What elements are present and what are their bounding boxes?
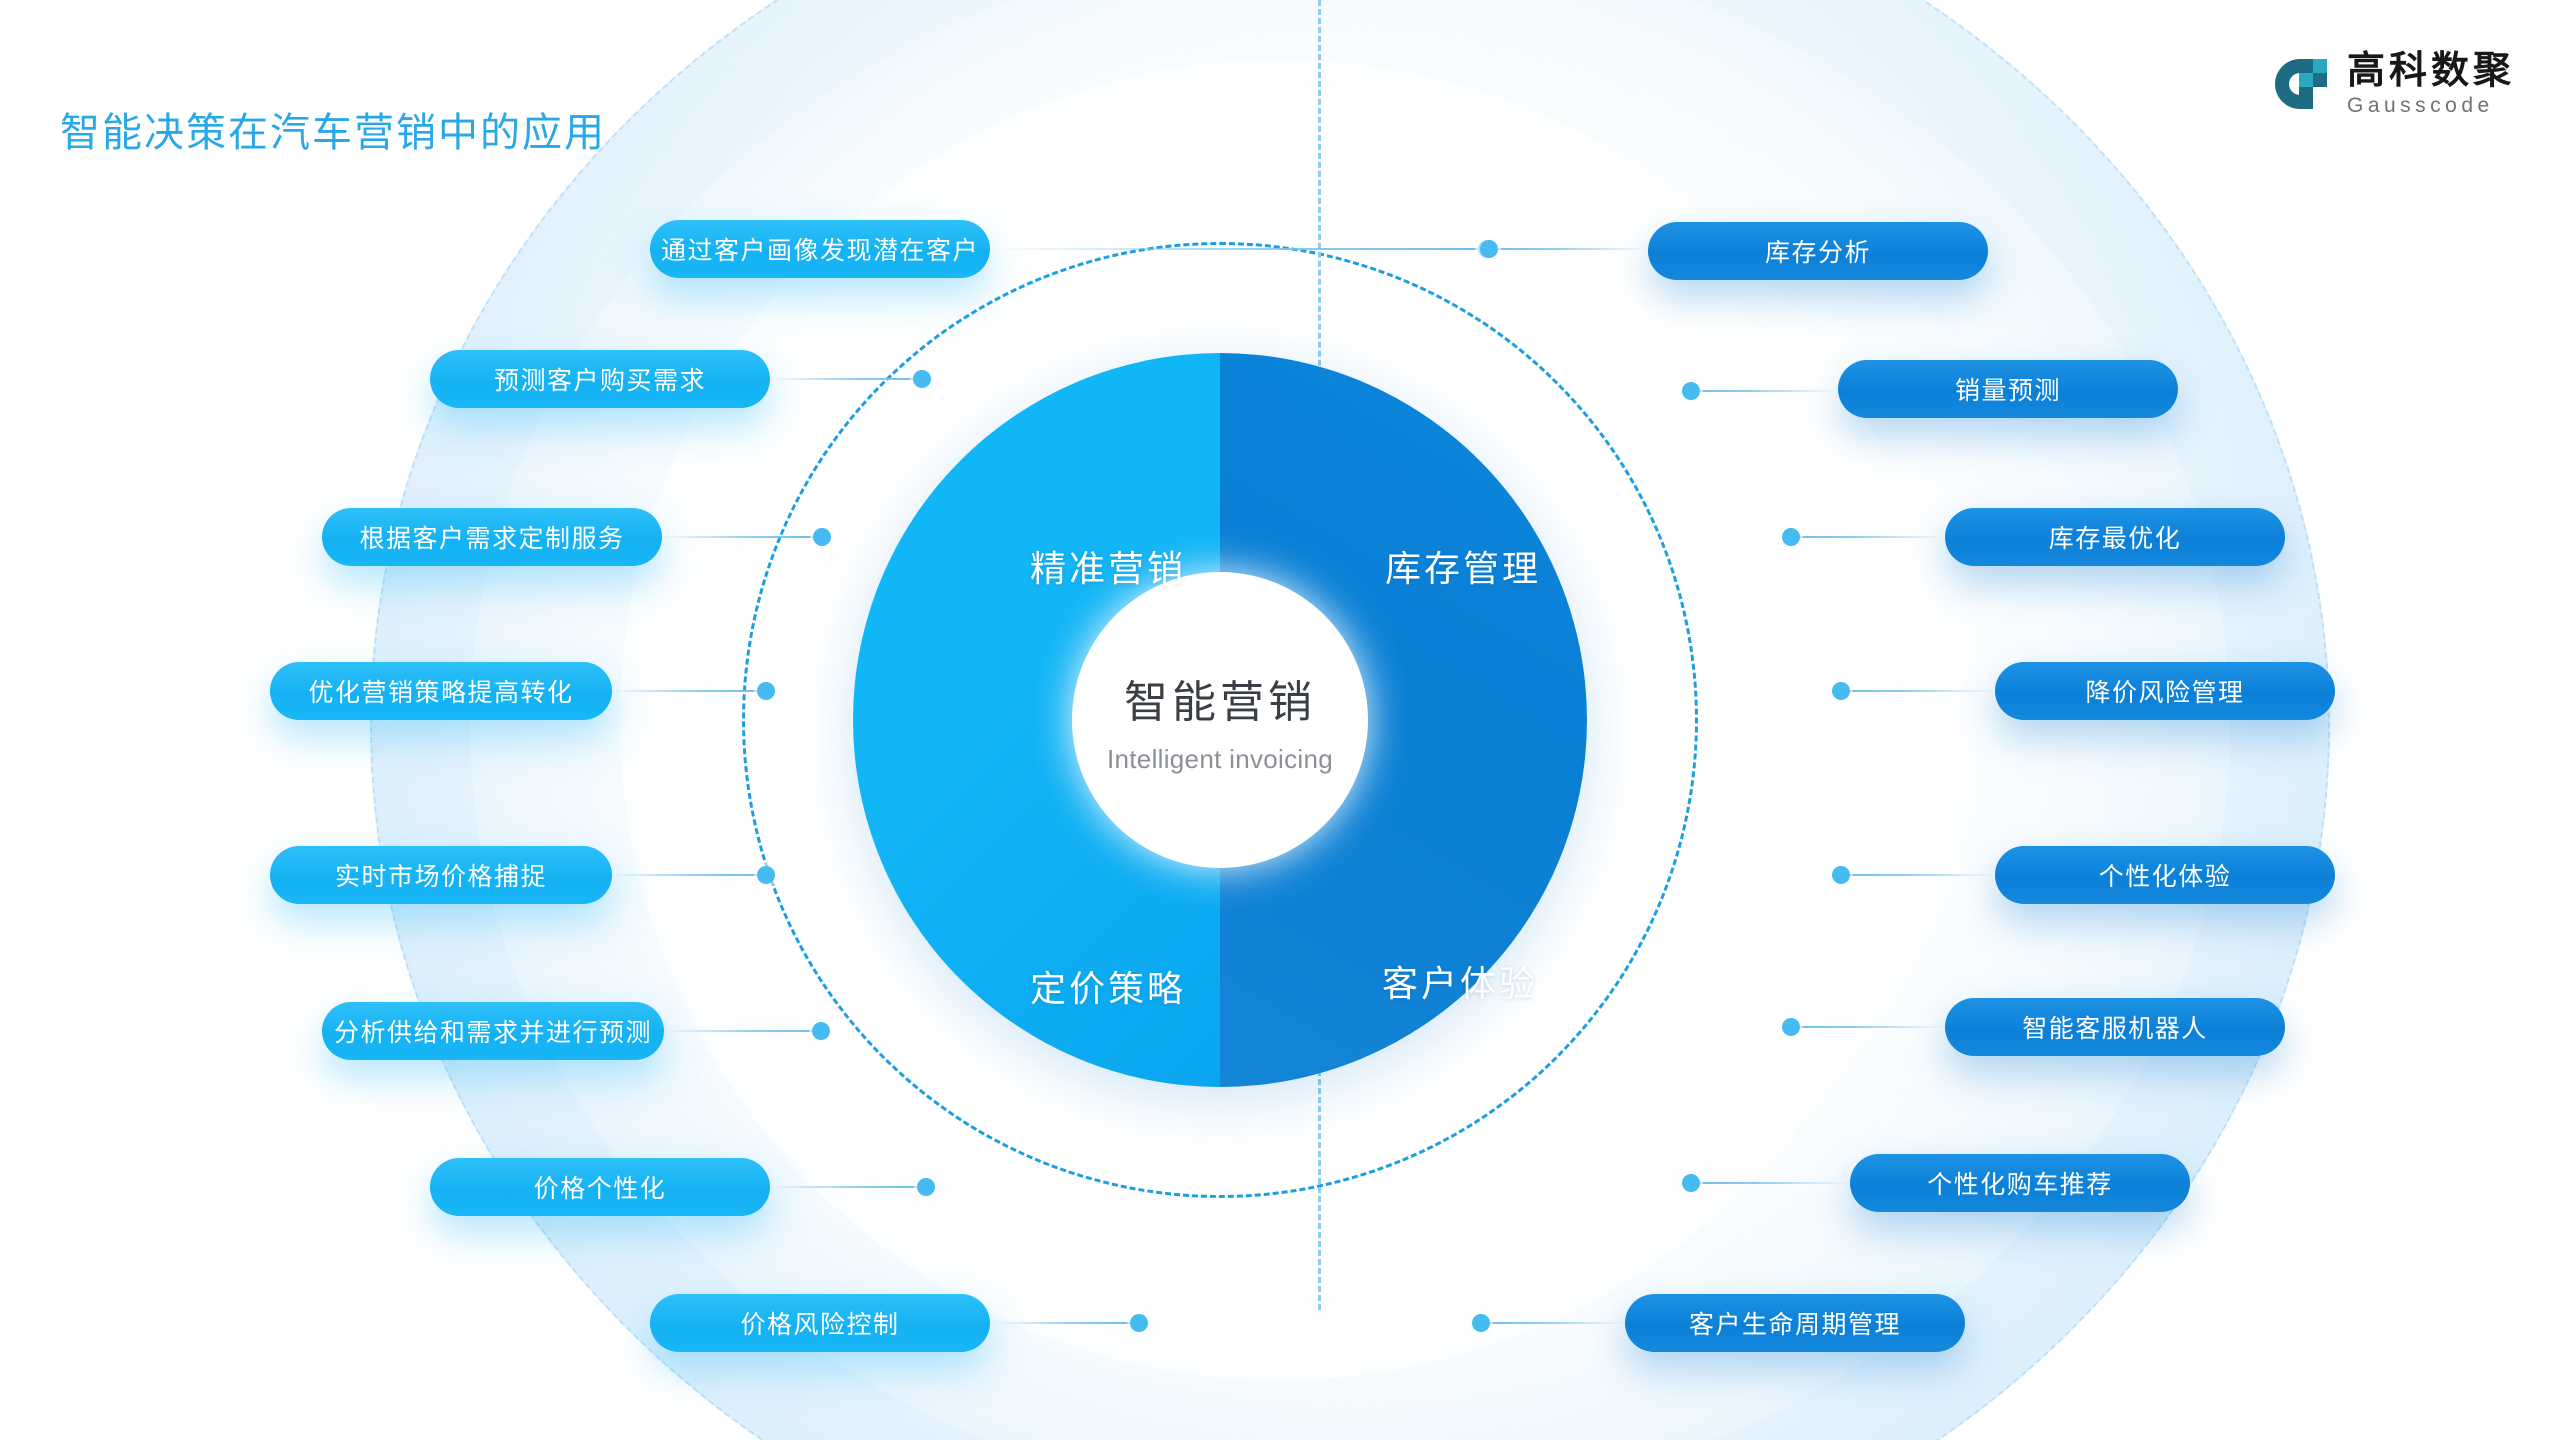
connector-dot-left-7: [917, 1178, 935, 1196]
connector-dot-right-4: [1832, 682, 1850, 700]
center-title-en: Intelligent invoicing: [1107, 744, 1333, 775]
quadrant-label-bottom-right: 客户体验: [1382, 955, 1538, 1007]
connector-dot-right-5: [1832, 866, 1850, 884]
page-title: 智能决策在汽车营销中的应用: [60, 100, 606, 158]
connector-dot-left-8: [1130, 1314, 1148, 1332]
left-item-pill-8[interactable]: 价格风险控制: [650, 1294, 990, 1352]
right-item-pill-8[interactable]: 客户生命周期管理: [1625, 1294, 1965, 1352]
connector-dot-left-5: [757, 866, 775, 884]
connector-line-left-6: [663, 1030, 818, 1032]
left-item-pill-4[interactable]: 优化营销策略提高转化: [270, 662, 612, 720]
connector-dot-left-3: [813, 528, 831, 546]
connector-dot-left-4: [757, 682, 775, 700]
left-item-pill-1[interactable]: 通过客户画像发现潜在客户: [650, 220, 990, 278]
connector-line-left-1: [992, 248, 1482, 250]
connector-line-right-7: [1690, 1182, 1850, 1184]
right-item-pill-5[interactable]: 个性化体验: [1995, 846, 2335, 904]
quadrant-label-top-left: 精准营销: [1030, 540, 1186, 592]
quadrant-label-top-right: 库存管理: [1385, 540, 1541, 592]
right-item-pill-3[interactable]: 库存最优化: [1945, 508, 2285, 566]
connector-line-left-7: [770, 1186, 922, 1188]
connector-line-right-6: [1790, 1026, 1945, 1028]
connector-line-right-5: [1840, 874, 1995, 876]
connector-line-right-3: [1790, 536, 1945, 538]
right-item-pill-2[interactable]: 销量预测: [1838, 360, 2178, 418]
left-item-pill-2[interactable]: 预测客户购买需求: [430, 350, 770, 408]
center-title-cn: 智能营销: [1124, 666, 1316, 730]
logo-english-name: Gausscode: [2347, 95, 2515, 116]
connector-dot-right-3: [1782, 528, 1800, 546]
connector-line-right-4: [1840, 690, 1995, 692]
connector-dot-right-7: [1682, 1174, 1700, 1192]
right-item-pill-4[interactable]: 降价风险管理: [1995, 662, 2335, 720]
connector-line-left-8: [994, 1322, 1134, 1324]
connector-line-left-4: [610, 690, 762, 692]
connector-line-left-5: [610, 874, 762, 876]
connector-dot-right-2: [1682, 382, 1700, 400]
connector-dot-left-6: [812, 1022, 830, 1040]
connector-dot-right-1: [1480, 240, 1498, 258]
infographic-canvas: 智能决策在汽车营销中的应用 高科数聚 Gausscode: [0, 0, 2560, 1440]
left-item-pill-6[interactable]: 分析供给和需求并进行预测: [322, 1002, 664, 1060]
right-item-pill-6[interactable]: 智能客服机器人: [1945, 998, 2285, 1056]
connector-dot-right-6: [1782, 1018, 1800, 1036]
connector-line-right-8: [1480, 1322, 1625, 1324]
brand-logo: 高科数聚 Gausscode: [2269, 52, 2515, 116]
left-item-pill-7[interactable]: 价格个性化: [430, 1158, 770, 1216]
connector-line-right-2: [1690, 390, 1835, 392]
left-item-pill-5[interactable]: 实时市场价格捕捉: [270, 846, 612, 904]
left-item-pill-3[interactable]: 根据客户需求定制服务: [322, 508, 662, 566]
connector-line-right-1: [1488, 248, 1648, 250]
connector-dot-right-8: [1472, 1314, 1490, 1332]
connector-line-left-3: [660, 536, 817, 538]
logo-chinese-name: 高科数聚: [2347, 52, 2515, 90]
quadrant-label-bottom-left: 定价策略: [1030, 960, 1186, 1012]
right-item-pill-7[interactable]: 个性化购车推荐: [1850, 1154, 2190, 1212]
gausscode-logo-icon: [2269, 53, 2331, 115]
donut-center-hub: 智能营销 Intelligent invoicing: [1072, 572, 1368, 868]
right-item-pill-1[interactable]: 库存分析: [1648, 222, 1988, 280]
logo-wordmark: 高科数聚 Gausscode: [2347, 52, 2515, 116]
